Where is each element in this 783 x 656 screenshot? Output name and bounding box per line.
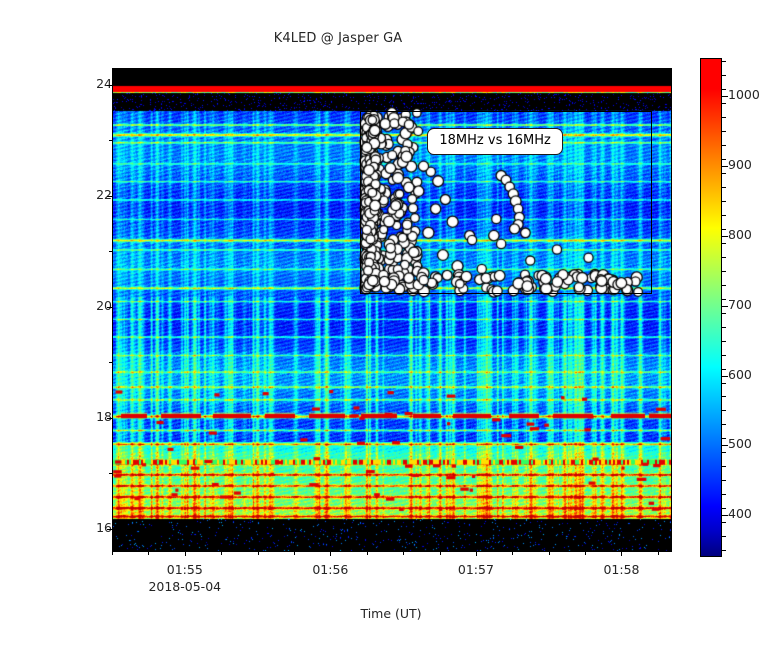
colorbar-minor-tick-mark xyxy=(722,75,726,76)
colorbar-minor-tick-mark xyxy=(722,243,726,244)
colorbar-minor-tick-mark xyxy=(722,327,726,328)
colorbar-tick-mark xyxy=(722,445,728,446)
x-minor-tick-mark xyxy=(403,551,404,555)
x-minor-tick-mark xyxy=(658,551,659,555)
colorbar-minor-tick-mark xyxy=(722,480,726,481)
annotation-label: 18MHz vs 16MHz xyxy=(427,128,562,155)
y-tick-mark xyxy=(107,529,112,530)
colorbar-minor-tick-mark xyxy=(722,285,726,286)
y-tick-label: 16 xyxy=(52,520,112,535)
x-tick-label: 01:55 xyxy=(140,562,230,577)
colorbar-minor-tick-mark xyxy=(722,145,726,146)
x-minor-tick-mark xyxy=(112,551,113,555)
colorbar-minor-tick-mark xyxy=(722,299,726,300)
x-minor-tick-mark xyxy=(294,551,295,555)
y-minor-tick-mark xyxy=(109,140,113,141)
colorbar-minor-tick-mark xyxy=(722,410,726,411)
colorbar-minor-tick-mark xyxy=(722,229,726,230)
colorbar-minor-tick-mark xyxy=(722,215,726,216)
colorbar-minor-tick-mark xyxy=(722,131,726,132)
y-tick-label: 24 xyxy=(52,76,112,91)
x-tick-mark xyxy=(476,551,477,556)
x-axis-label: Time (UT) xyxy=(112,606,670,621)
x-minor-tick-mark xyxy=(440,551,441,555)
y-minor-tick-mark xyxy=(109,362,113,363)
x-minor-tick-mark xyxy=(221,551,222,555)
colorbar-minor-tick-mark xyxy=(722,201,726,202)
colorbar-minor-tick-mark xyxy=(722,103,726,104)
y-minor-tick-mark xyxy=(109,251,113,252)
colorbar-minor-tick-mark xyxy=(722,61,726,62)
x-tick-mark xyxy=(621,551,622,556)
colorbar-tick-label: 1000 xyxy=(728,87,760,102)
spectrogram-image xyxy=(113,69,671,551)
x-minor-tick-mark xyxy=(148,551,149,555)
colorbar-minor-tick-mark xyxy=(722,438,726,439)
y-tick-mark xyxy=(107,307,112,308)
colorbar-minor-tick-mark xyxy=(722,452,726,453)
colorbar-minor-tick-mark xyxy=(722,355,726,356)
x-tick-label: 01:58 xyxy=(576,562,666,577)
y-minor-tick-mark xyxy=(109,473,113,474)
colorbar-minor-tick-mark xyxy=(722,494,726,495)
colorbar-minor-tick-mark xyxy=(722,313,726,314)
colorbar-tick-label: 500 xyxy=(728,436,752,451)
colorbar-minor-tick-mark xyxy=(722,271,726,272)
x-tick-mark xyxy=(330,551,331,556)
colorbar-tick-mark xyxy=(722,306,728,307)
y-tick-label: 20 xyxy=(52,298,112,313)
x-axis-date: 2018-05-04 xyxy=(125,579,245,594)
colorbar-minor-tick-mark xyxy=(722,383,726,384)
colorbar-tick-mark xyxy=(722,166,728,167)
colorbar-minor-tick-mark xyxy=(722,187,726,188)
colorbar-minor-tick-mark xyxy=(722,508,726,509)
colorbar-minor-tick-mark xyxy=(722,341,726,342)
x-tick-label: 01:57 xyxy=(431,562,521,577)
figure-canvas: K4LED @ Jasper GA Frequency (MHz) 242220… xyxy=(0,0,783,656)
page-title: K4LED @ Jasper GA xyxy=(0,31,676,46)
x-minor-tick-mark xyxy=(258,551,259,555)
colorbar-tick-mark xyxy=(722,376,728,377)
x-tick-label: 01:56 xyxy=(285,562,375,577)
y-tick-label: 22 xyxy=(52,187,112,202)
colorbar-minor-tick-mark xyxy=(722,89,726,90)
colorbar-minor-tick-mark xyxy=(722,536,726,537)
colorbar-minor-tick-mark xyxy=(722,173,726,174)
colorbar-minor-tick-mark xyxy=(722,522,726,523)
colorbar-minor-tick-mark xyxy=(722,466,726,467)
colorbar[interactable] xyxy=(700,58,722,557)
colorbar-tick-mark xyxy=(722,96,728,97)
colorbar-minor-tick-mark xyxy=(722,159,726,160)
colorbar-minor-tick-mark xyxy=(722,424,726,425)
colorbar-minor-tick-mark xyxy=(722,369,726,370)
x-minor-tick-mark xyxy=(512,551,513,555)
y-tick-mark xyxy=(107,418,112,419)
colorbar-tick-mark xyxy=(722,236,728,237)
spectrogram-axes[interactable] xyxy=(112,68,672,552)
colorbar-gradient xyxy=(701,59,721,556)
x-minor-tick-mark xyxy=(549,551,550,555)
colorbar-tick-label: 400 xyxy=(728,506,752,521)
colorbar-minor-tick-mark xyxy=(722,550,726,551)
colorbar-minor-tick-mark xyxy=(722,257,726,258)
colorbar-tick-label: 600 xyxy=(728,367,752,382)
y-tick-mark xyxy=(107,196,112,197)
colorbar-minor-tick-mark xyxy=(722,396,726,397)
x-minor-tick-mark xyxy=(585,551,586,555)
colorbar-minor-tick-mark xyxy=(722,117,726,118)
colorbar-tick-label: 800 xyxy=(728,227,752,242)
colorbar-tick-label: 900 xyxy=(728,157,752,172)
colorbar-tick-mark xyxy=(722,515,728,516)
y-tick-mark xyxy=(107,85,112,86)
x-minor-tick-mark xyxy=(367,551,368,555)
y-tick-label: 18 xyxy=(52,409,112,424)
x-tick-mark xyxy=(185,551,186,556)
colorbar-tick-label: 700 xyxy=(728,297,752,312)
